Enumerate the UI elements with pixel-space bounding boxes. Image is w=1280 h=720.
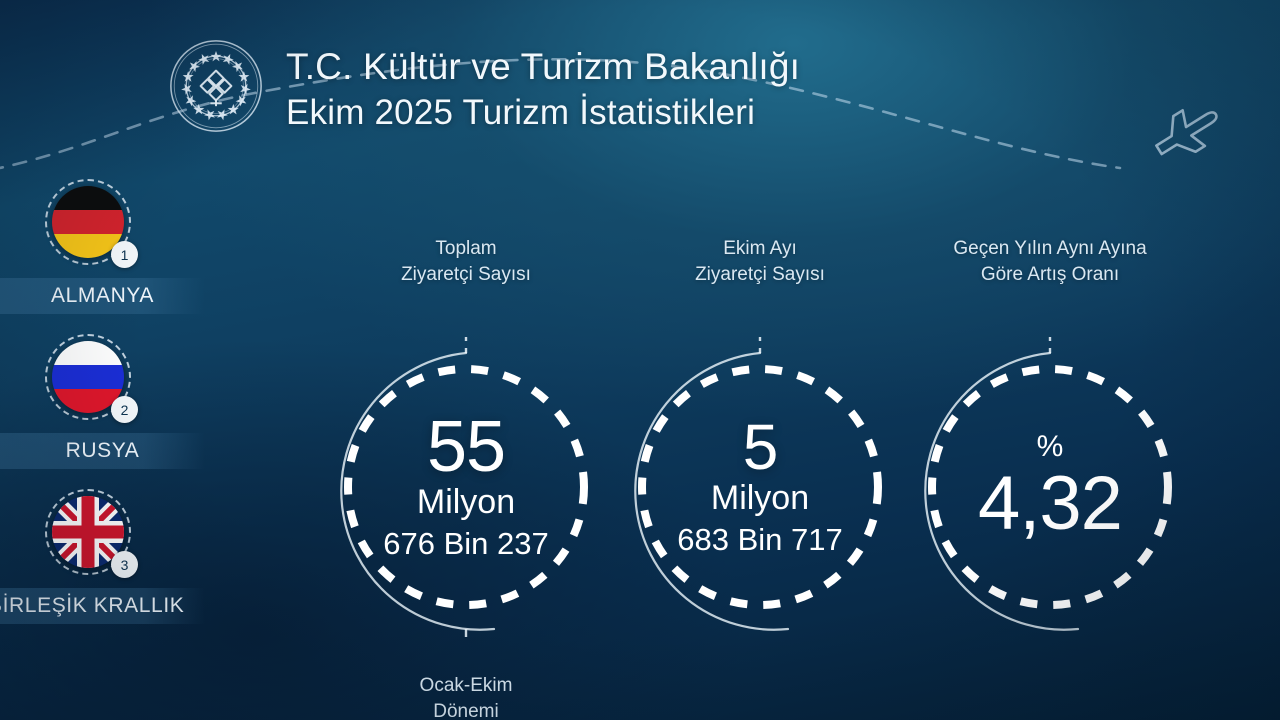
rank-badge: 1 [111,241,138,268]
stat-caption-bottom: Ocak-Ekim Dönemi [316,673,616,720]
header: T.C. Kültür ve Turizm Bakanlığı Ekim 202… [168,38,800,135]
flag-wrapper: 3 [52,496,124,568]
stat-card-ekim-ayi-ziyaretci: Ekim Ayı Ziyaretçi Sayısı 5 Milyon 683 B… [610,236,910,637]
page-title: T.C. Kültür ve Turizm Bakanlığı [286,44,800,91]
airplane-icon [1148,97,1227,168]
rank-badge: 2 [111,396,138,423]
top-countries-sidebar: 1 ALMANYA 2 RUSYA [0,186,240,651]
sidebar-item-almanya[interactable]: 1 ALMANYA [0,186,240,341]
flag-wrapper: 1 [52,186,124,258]
stat-unit: Milyon [417,484,515,521]
stat-card-artis-orani: Geçen Yılın Aynı Ayına Göre Artış Oranı … [900,236,1200,637]
stat-caption-top: Ekim Ayı Ziyaretçi Sayısı [610,236,910,287]
stat-ring: 5 Milyon 683 Bin 717 [610,337,910,637]
stat-unit: Milyon [711,480,809,517]
country-label: BİRLEŞİK KRALLIK [0,588,205,624]
flag-wrapper: 2 [52,341,124,413]
turkish-ministry-of-culture-and-tourism-emblem [168,38,264,134]
stat-detail: 683 Bin 717 [677,522,842,558]
title-block: T.C. Kültür ve Turizm Bakanlığı Ekim 202… [286,38,800,135]
stat-detail: 676 Bin 237 [383,526,548,562]
stat-value-group: 55 Milyon 676 Bin 237 [316,337,616,637]
stat-value: 55 [427,413,505,482]
sidebar-item-birlesik-krallik[interactable]: 3 BİRLEŞİK KRALLIK [0,496,240,651]
stat-ring: % 4,32 [900,337,1200,637]
stat-caption-top: Geçen Yılın Aynı Ayına Göre Artış Oranı [900,236,1200,287]
stat-ring: 55 Milyon 676 Bin 237 [316,337,616,637]
stat-card-toplam-ziyaretci: Toplam Ziyaretçi Sayısı 55 Milyon 676 Bi… [316,236,616,720]
infographic-canvas: T.C. Kültür ve Turizm Bakanlığı Ekim 202… [0,0,1280,720]
rank-badge: 3 [111,551,138,578]
sidebar-item-rusya[interactable]: 2 RUSYA [0,341,240,496]
stat-value: 4,32 [978,466,1122,542]
stat-value-group: % 4,32 [900,337,1200,637]
country-label: ALMANYA [0,278,205,314]
page-subtitle: Ekim 2025 Turizm İstatistikleri [286,91,800,135]
stat-caption-top: Toplam Ziyaretçi Sayısı [316,236,616,287]
stat-value-group: 5 Milyon 683 Bin 717 [610,337,910,637]
country-label: RUSYA [0,433,205,469]
stat-value: 5 [743,417,778,478]
percent-sign: % [1037,432,1064,462]
